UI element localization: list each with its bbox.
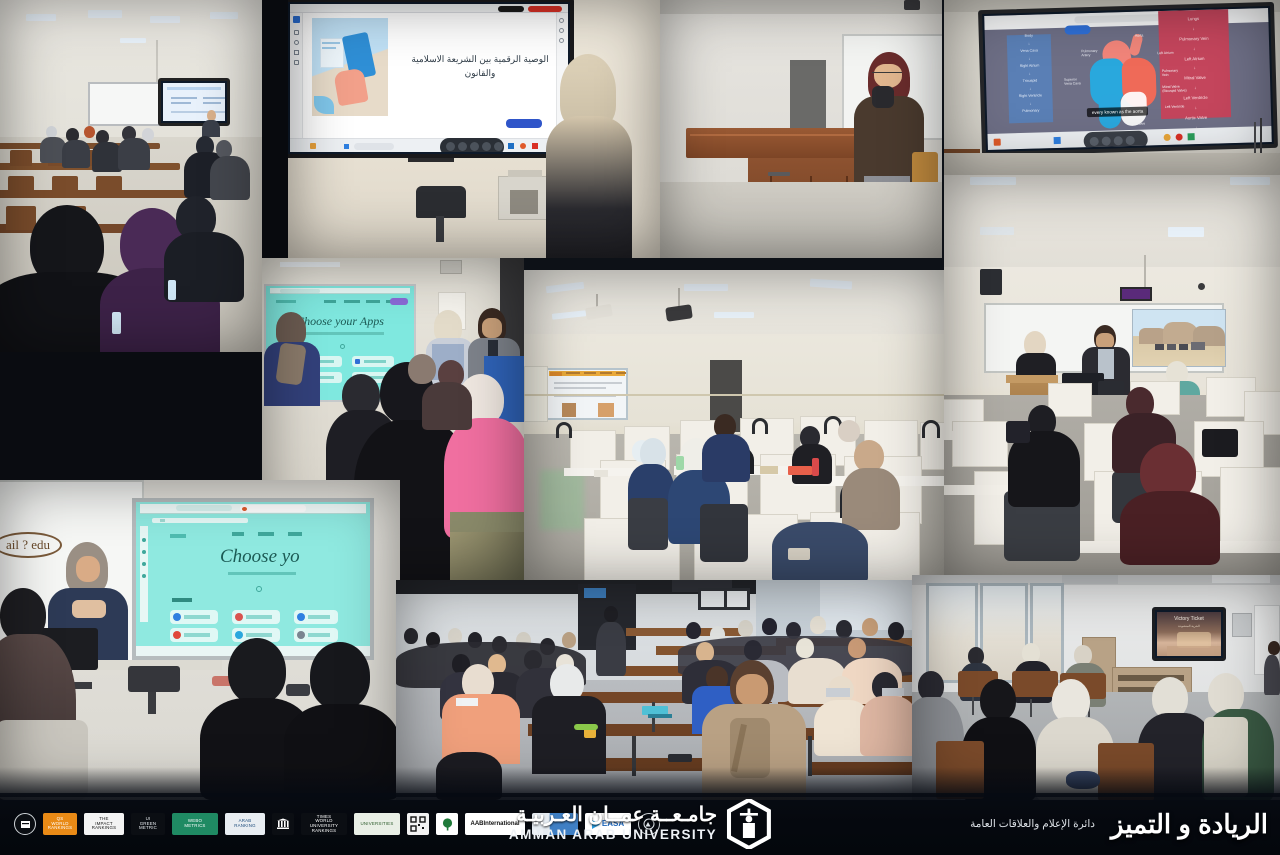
- accreditation-logo: TIMES WORLD UNIVERSITY RANKINGS: [301, 813, 347, 835]
- accreditation-logo: QS WORLD RANKINGS: [43, 813, 77, 835]
- collage-panel-computer-lab-presentation: [944, 175, 1280, 580]
- brand-right-group: دائرة الإعلام والعلاقات العامة الريادة و…: [970, 809, 1268, 840]
- accreditation-logo: [14, 813, 36, 835]
- accreditation-logo: ARAB RANKING: [225, 813, 265, 835]
- panel2-touchscreen-display: الوصية الرقمية بين الشريعة الاسلامية وال…: [288, 0, 574, 158]
- collage-seam: [262, 0, 288, 258]
- collage-panel-digital-will-presentation: الوصية الرقمية بين الشريعة الاسلامية وال…: [288, 0, 660, 258]
- photo-collage: الوصية الرقمية بين الشريعة الاسلامية وال…: [0, 0, 1280, 855]
- pillars-icon: [276, 818, 290, 830]
- collage-panel-language-lab-headphones: [524, 270, 944, 584]
- accreditation-logo: WEBO METRICS: [172, 813, 218, 835]
- department-label: دائرة الإعلام والعلاقات العامة: [970, 818, 1095, 830]
- accreditation-logo: [272, 813, 294, 835]
- panel4-display: Lungs↓Pulmonary Vein↓Left Atrium↓Mitral …: [978, 2, 1278, 156]
- accreditation-logo: UNIVERSITIES: [354, 813, 400, 835]
- brand-bar: QS WORLD RANKINGS THE IMPACT RANKINGS UI…: [0, 793, 1280, 855]
- collage-panel-seminar-circle: Victory Ticket الحرية المنشودة: [912, 575, 1280, 800]
- collage-panel-podium-speaker: [660, 0, 942, 258]
- collage-panel-large-auditorium: [396, 580, 916, 800]
- panel8-screen-heading: Choose yo: [220, 546, 300, 568]
- university-logo-lockup: جامـعــة عمــان العـربيـة AMMAN ARAB UNI…: [509, 799, 771, 849]
- panel8-smartboard: Choose yo: [132, 498, 374, 660]
- collage-panel-instructor-smartboard: ail ? edu Choose yo: [0, 480, 400, 800]
- panel10-screen-title: Victory Ticket: [1157, 616, 1221, 622]
- collage-seam: [0, 352, 262, 480]
- panel2-slide-title: الوصية الرقمية بين الشريعة الاسلامية وال…: [410, 52, 550, 81]
- accreditation-logo: UI GREEN METRIC: [131, 813, 165, 835]
- accreditation-logo: [407, 813, 429, 835]
- hexagon-graduate-crest-icon: [727, 799, 771, 849]
- tree-icon: [440, 817, 455, 832]
- panel1-display: [158, 78, 230, 126]
- panel10-display: Victory Ticket الحرية المنشودة: [1152, 607, 1226, 661]
- accreditation-logo: THE IMPACT RANKINGS: [84, 813, 124, 835]
- slogan-label: الريادة و التميز: [1111, 809, 1268, 840]
- university-name-arabic: جامـعــة عمــان العـربيـة: [509, 804, 717, 827]
- collage-panel-lecture-hall-wide: [0, 0, 262, 352]
- panel4-caption: every known as the aorta: [1087, 106, 1149, 117]
- seal-icon: [20, 820, 31, 829]
- qr-icon: [410, 816, 426, 832]
- university-name: جامـعــة عمــان العـربيـة AMMAN ARAB UNI…: [509, 804, 717, 843]
- university-name-english: AMMAN ARAB UNIVERSITY: [509, 827, 717, 843]
- panel7-projected-image: [1132, 309, 1226, 367]
- collage-panel-heart-anatomy-lecture: Lungs↓Pulmonary Vein↓Left Atrium↓Mitral …: [944, 0, 1280, 175]
- accreditation-logo: [436, 813, 458, 835]
